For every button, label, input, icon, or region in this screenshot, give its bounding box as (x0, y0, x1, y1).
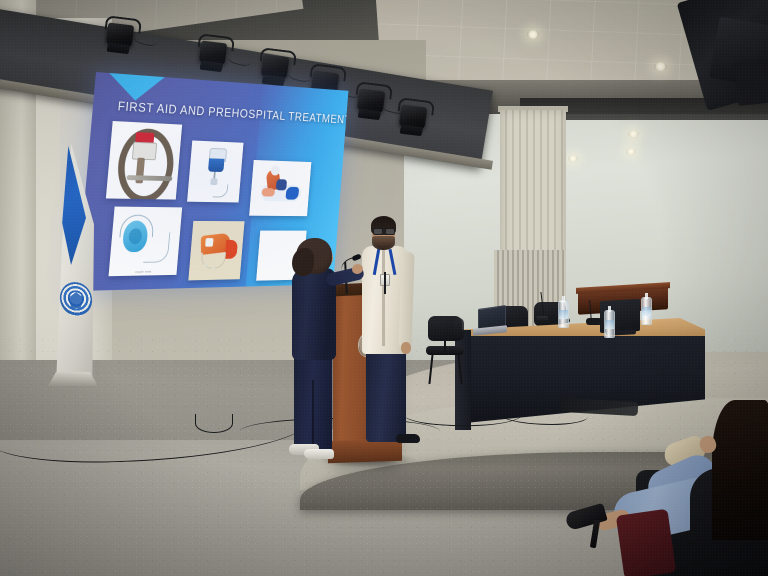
audience-chair-red (616, 509, 676, 576)
slide-card-oxygen-mask: oxygen mask (109, 207, 183, 277)
lecture-hall-photo: FIRST AID AND PREHOSPITAL TREATMENT (0, 0, 768, 576)
podium-microphone-secondary (384, 272, 386, 294)
stage-spotlight-icon (261, 54, 289, 79)
water-bottle (641, 297, 652, 325)
presenter-man-glasses-lens-right (385, 228, 395, 235)
presenter-man-beard (372, 236, 395, 250)
bottle-label (642, 307, 651, 316)
bottle-label (605, 320, 614, 329)
slide-card-caption: oxygen mask (109, 270, 177, 274)
water-bottle (558, 300, 569, 328)
floor-cable-loop (195, 414, 233, 433)
slide-card-cpr (249, 160, 311, 216)
audience-member-1-hair (712, 400, 768, 540)
presenter-man-glasses-lens-left (373, 228, 383, 235)
slide-card-caption (188, 277, 239, 278)
slide-card-iv-drip (187, 140, 243, 202)
presenter-man-trousers (366, 350, 406, 442)
slide-card-suction-device (188, 221, 244, 280)
slide-card-caption (249, 214, 307, 215)
flag-stand-base (48, 372, 98, 386)
desk-accessory (586, 318, 602, 325)
presenter-woman-shoe (304, 449, 334, 459)
podium-base (328, 439, 402, 464)
av-equipment-tertiary (734, 58, 768, 106)
downlight-icon (654, 62, 667, 71)
desk-microphone-base (536, 316, 548, 321)
chair-back (454, 318, 464, 340)
stage-spotlight-icon (106, 22, 134, 47)
downlight-icon (626, 148, 636, 155)
downlight-icon (628, 130, 639, 138)
bottle-label (559, 310, 568, 319)
water-bottle (604, 310, 615, 338)
slide-card-tourniquet (106, 121, 182, 200)
chair-leg (444, 341, 446, 355)
slide-card-caption (187, 200, 238, 201)
presenter-man-shirt-placket (382, 250, 385, 346)
presenter-woman-leg-seam (312, 380, 314, 450)
presenter-man-hand (401, 342, 411, 354)
presenter-man-shoe (396, 434, 420, 443)
downlight-icon (527, 30, 539, 39)
stage-spotlight-icon (199, 40, 227, 65)
slide-accent-triangle-icon (107, 73, 165, 102)
downlight-icon (568, 155, 578, 162)
presenter-woman-hair-back (292, 248, 314, 276)
